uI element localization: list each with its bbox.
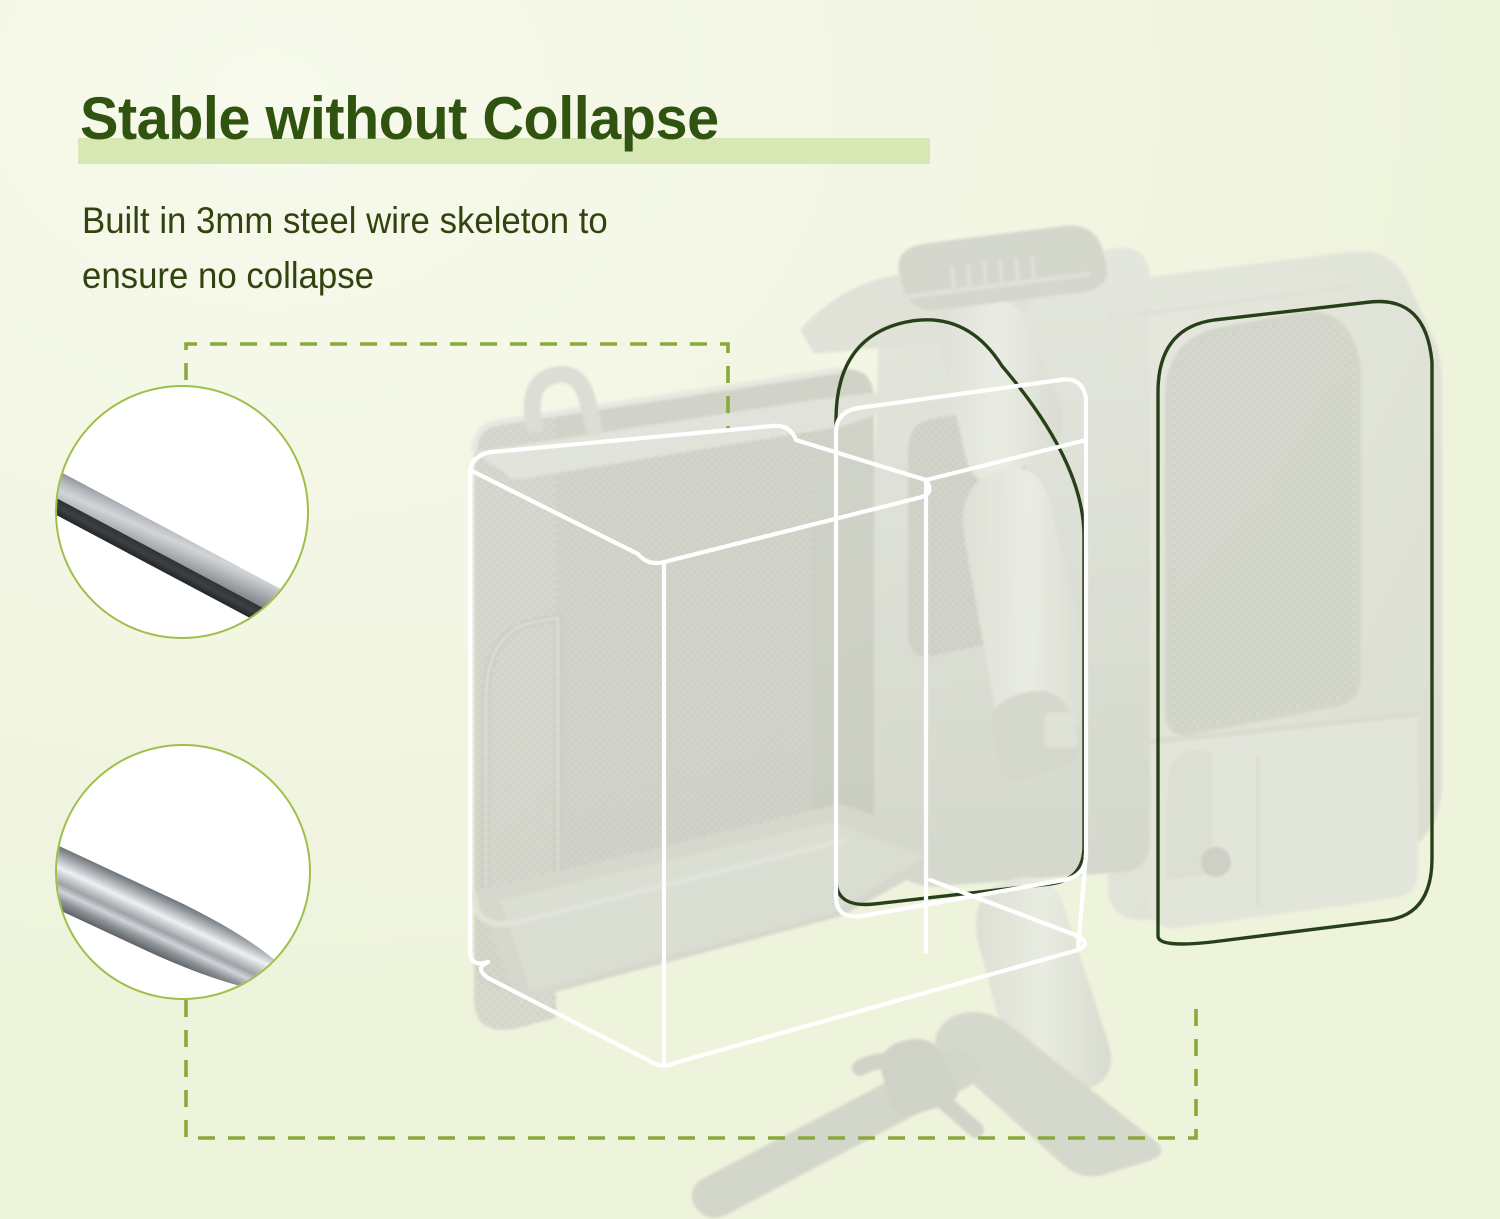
page-title: Stable without Collapse bbox=[80, 84, 719, 153]
connector-bottom bbox=[186, 1000, 1196, 1138]
subtitle-line-2: ensure no collapse bbox=[82, 249, 740, 304]
material-inset-flat-bar: flat steel wire bar bbox=[55, 385, 309, 639]
infographic-canvas: flat steel wire bar 3mm round steel wire… bbox=[0, 0, 1500, 1219]
material-inset-round-rod: 3mm round steel wire rod bbox=[55, 744, 311, 1000]
subtitle-line-1: Built in 3mm steel wire skeleton to bbox=[82, 194, 740, 249]
connector-top bbox=[186, 344, 728, 428]
